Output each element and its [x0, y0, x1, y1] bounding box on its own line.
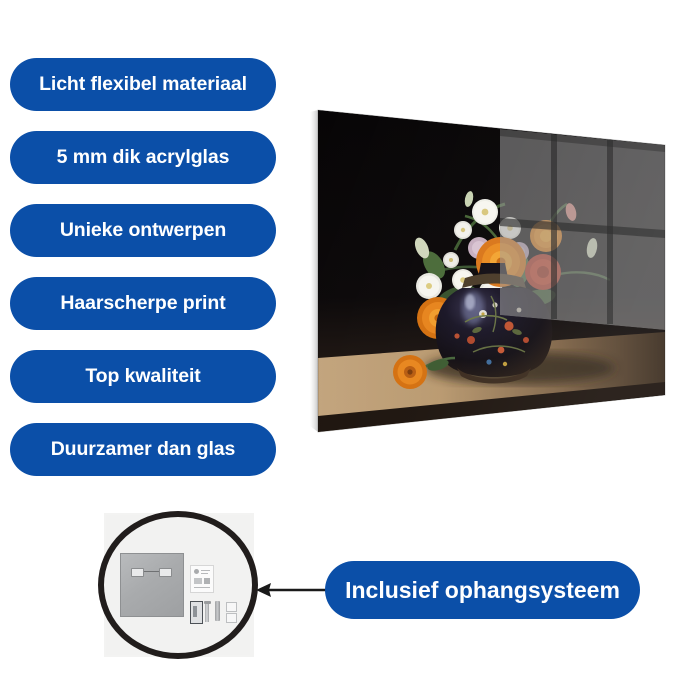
plate-slot-right — [159, 568, 172, 577]
feature-badge-haarscherpe-print[interactable]: Haarscherpe print — [10, 277, 276, 330]
feature-badge-top-kwaliteit[interactable]: Top kwaliteit — [10, 350, 276, 403]
spacer-square-2 — [226, 613, 237, 623]
spacer-square-1 — [226, 602, 237, 612]
instruction-card — [190, 565, 214, 593]
panel-gloss — [318, 110, 665, 432]
panel-artwork — [318, 110, 665, 432]
plate-slot-left — [131, 568, 144, 577]
kit-photo — [106, 515, 250, 655]
arrow-head-icon — [256, 583, 271, 597]
mounting-kit-closeup[interactable] — [98, 511, 258, 659]
feature-badge-licht-flexibel-materiaal[interactable]: Licht flexibel materiaal — [10, 58, 276, 111]
feature-badge-label: Unieke ontwerpen — [60, 221, 226, 241]
card-line — [201, 570, 210, 571]
screw — [205, 601, 209, 622]
feature-badge-label: Licht flexibel materiaal — [39, 75, 247, 95]
feature-badge-label: Haarscherpe print — [60, 294, 225, 314]
callout-badge-label: Inclusief ophangsysteem — [345, 579, 620, 602]
feature-badge-5mm-dik-acrylglas[interactable]: 5 mm dik acrylglas — [10, 131, 276, 184]
panel-edge-5mm — [310, 110, 318, 432]
card-line — [194, 587, 210, 588]
feature-badge-list: Licht flexibel materiaal 5 mm dik acrylg… — [10, 58, 276, 496]
feature-badge-unieke-ontwerpen[interactable]: Unieke ontwerpen — [10, 204, 276, 257]
feature-badge-duurzamer-dan-glas[interactable]: Duurzamer dan glas — [10, 423, 276, 476]
mounting-plate — [120, 553, 184, 617]
callout-badge-inclusief-ophangsysteem[interactable]: Inclusief ophangsysteem — [325, 561, 640, 619]
wall-plug — [215, 601, 220, 621]
card-glyph-box — [194, 578, 202, 584]
card-glyph-circle — [194, 569, 199, 574]
card-glyph-box — [204, 578, 210, 584]
product-feature-graphic: Licht flexibel materiaal 5 mm dik acrylg… — [0, 0, 700, 700]
feature-badge-label: Duurzamer dan glas — [51, 440, 236, 460]
wall-bracket — [190, 601, 203, 624]
panel-perspective-render — [305, 100, 675, 445]
card-line — [201, 573, 208, 574]
acrylic-print-panel[interactable] — [305, 100, 675, 445]
feature-badge-label: 5 mm dik acrylglas — [57, 148, 230, 168]
feature-badge-label: Top kwaliteit — [85, 367, 200, 387]
